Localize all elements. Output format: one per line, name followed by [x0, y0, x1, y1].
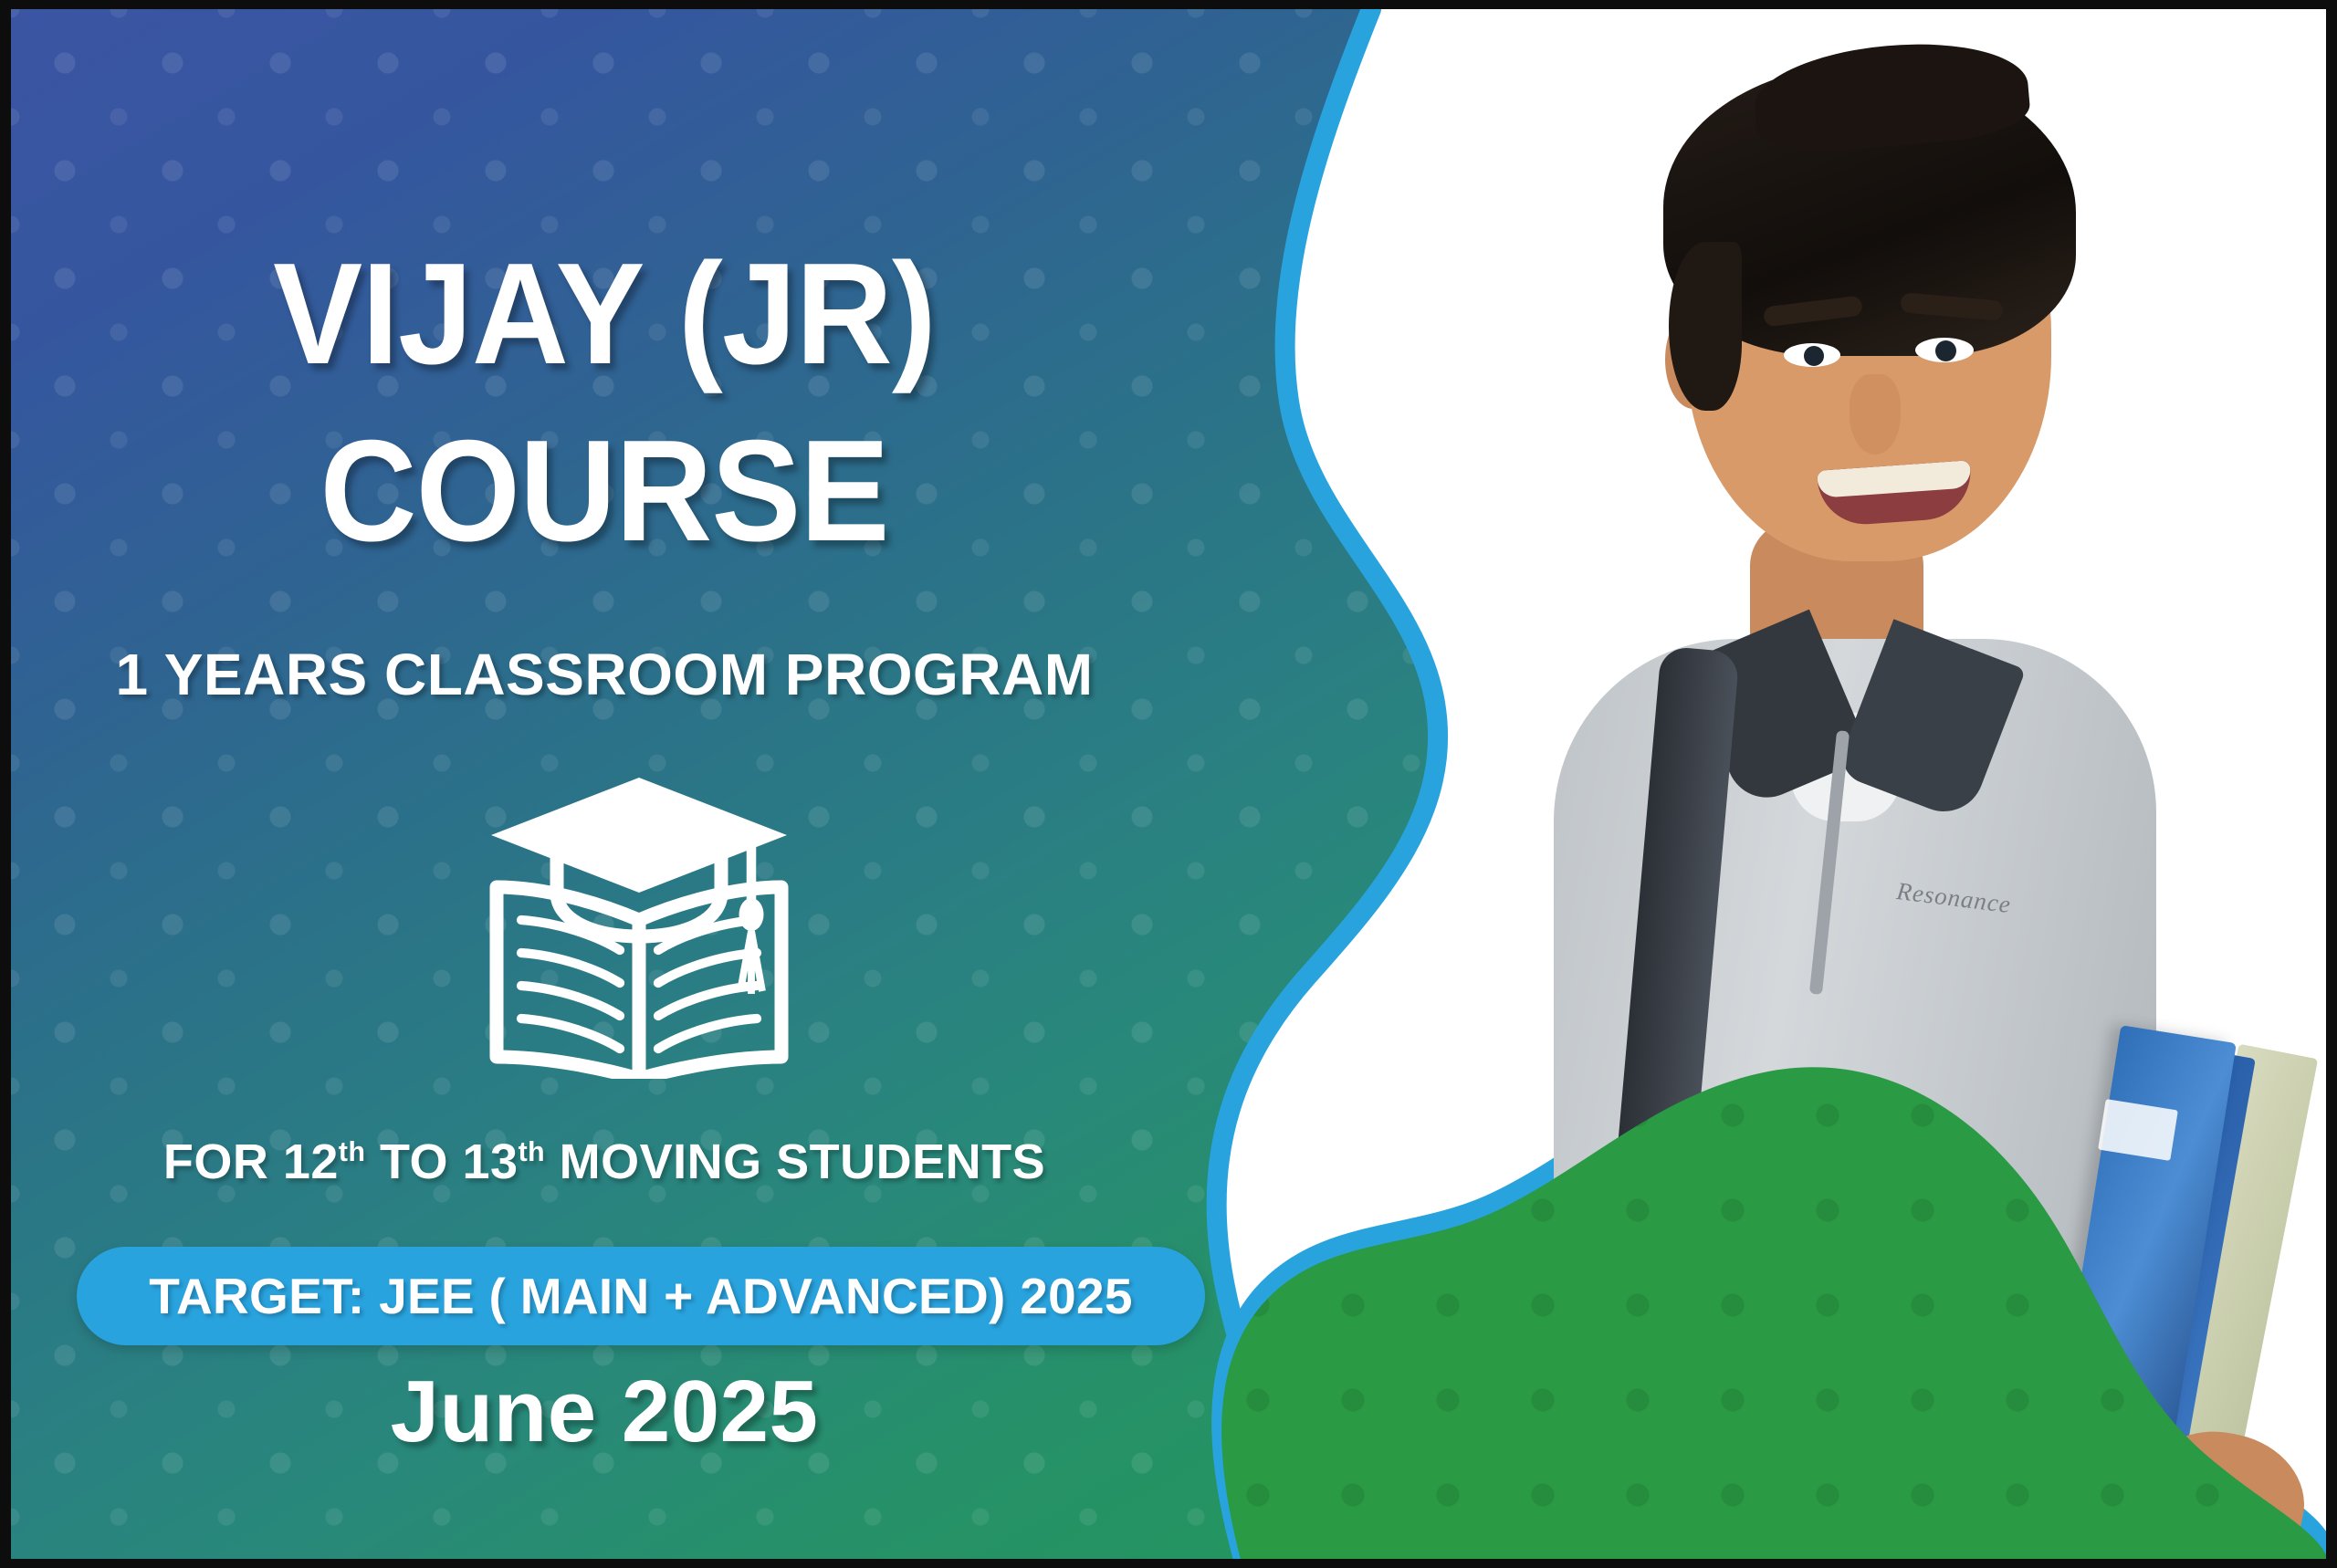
graduation-cap-open-book-icon	[475, 750, 803, 1079]
course-title-line-2: COURSE	[53, 422, 1157, 561]
target-exam-badge-label: TARGET: JEE ( MAIN + ADVANCED) 2025	[149, 1267, 1133, 1325]
program-subtitle: 1 YEARS CLASSROOM PROGRAM	[11, 641, 1198, 708]
banner-stage: Resonance VIJAY (JR) COURSE 1 YEARS CLAS…	[11, 9, 2326, 1559]
hair-sideburn	[1669, 242, 1742, 411]
nose	[1850, 374, 1901, 455]
audience-suffix: MOVING STUDENTS	[545, 1134, 1045, 1189]
session-date: June 2025	[11, 1362, 1198, 1462]
audience-superscript-2: th	[519, 1137, 546, 1167]
audience-superscript-1: th	[339, 1137, 366, 1167]
target-audience-text: FOR 12th TO 13th MOVING STUDENTS	[11, 1134, 1198, 1190]
audience-middle: TO 13	[365, 1134, 518, 1189]
audience-prefix: FOR 12	[163, 1134, 339, 1189]
promotional-banner: Resonance VIJAY (JR) COURSE 1 YEARS CLAS…	[0, 0, 2337, 1568]
course-title-line-1: VIJAY (JR)	[53, 245, 1157, 384]
content-column: VIJAY (JR) COURSE 1 YEARS CLASSROOM PROG…	[11, 9, 1271, 1559]
target-exam-badge[interactable]: TARGET: JEE ( MAIN + ADVANCED) 2025	[77, 1247, 1205, 1345]
pupil-left	[1804, 346, 1824, 366]
pupil-right	[1935, 340, 1956, 361]
